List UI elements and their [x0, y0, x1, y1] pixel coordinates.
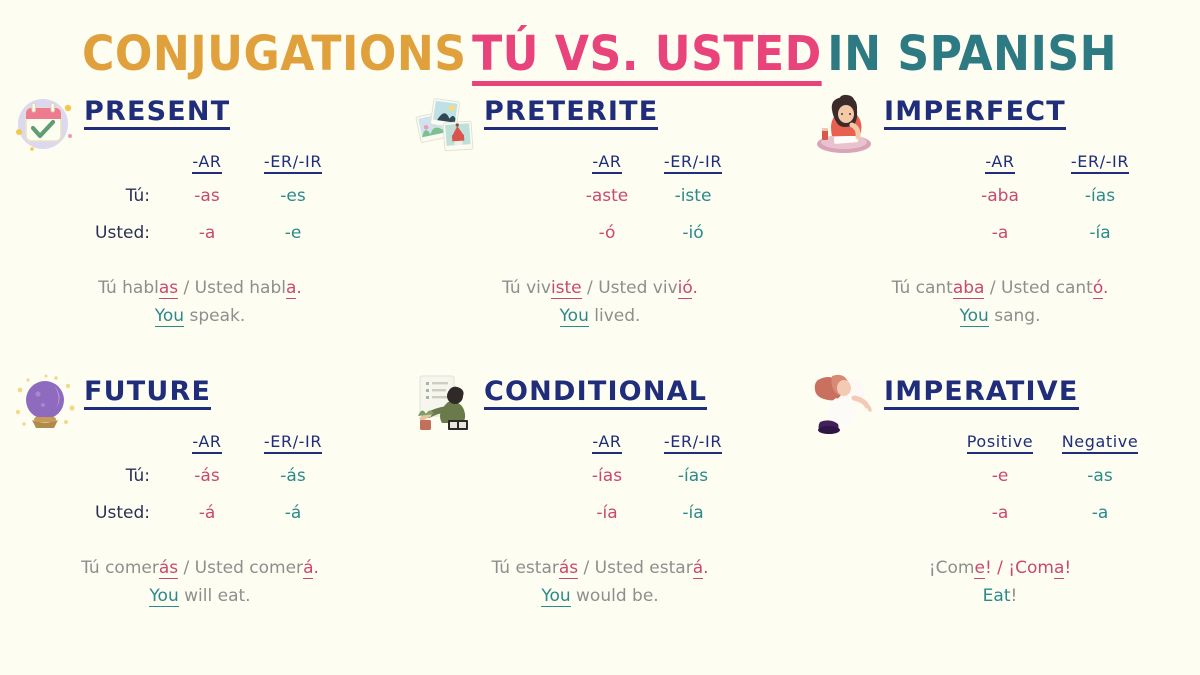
cell-usted-erir: -ía	[650, 503, 736, 523]
cell-tu-negative: -as	[1050, 466, 1150, 486]
page-title: CONJUGATIONSTÚ VS. USTEDIN SPANISH	[82, 30, 1117, 86]
column-header-2: -ER/-IR	[650, 432, 736, 454]
person-gesturing-icon	[810, 372, 884, 438]
tense-title: IMPERFECT	[884, 98, 1066, 130]
cell-usted-ar: -a	[164, 223, 250, 243]
column-header-1: -AR	[950, 152, 1050, 174]
cell-usted-ar: -á	[164, 503, 250, 523]
example-line-1: Tú cantaba / Usted cantó.	[892, 278, 1109, 299]
table-header-row: -AR -ER/-IR	[0, 152, 400, 186]
table-row-tu: -aba -ías	[800, 186, 1200, 223]
cell-tu-positive: -e	[950, 466, 1050, 486]
table-header-row: Positive Negative	[800, 432, 1200, 466]
table-row-tu: -aste -iste	[400, 186, 800, 223]
example-line-2: You lived.	[430, 302, 770, 330]
example-line-1: Tú hablas / Usted habla.	[98, 278, 302, 299]
cell-tu-ar: -ías	[564, 466, 650, 486]
cell-usted-erir: -á	[250, 503, 336, 523]
row-label-usted: Usted:	[0, 223, 164, 243]
table-row-usted: Usted: -á -á	[0, 503, 400, 540]
table-row-tu: Tú: -as -es	[0, 186, 400, 223]
cell-usted-negative: -a	[1050, 503, 1150, 523]
table-row-usted: -a -a	[800, 503, 1200, 540]
cell-usted-ar: -a	[950, 223, 1050, 243]
table-header-row: -AR -ER/-IR	[800, 152, 1200, 186]
tense-card-imperative: IMPERATIVE Positive Negative -e -as -a -…	[800, 378, 1200, 643]
tense-card-present: PRESENT -AR -ER/-IR Tú: -as -es Usted: -…	[0, 98, 400, 378]
row-label-usted: Usted:	[0, 503, 164, 523]
tense-card-imperfect: IMPERFECT -AR -ER/-IR -aba -ías -a -ía T…	[800, 98, 1200, 378]
cell-usted-erir: -ía	[1050, 223, 1150, 243]
table-row-usted: -ó -ió	[400, 223, 800, 260]
tense-title: CONDITIONAL	[484, 378, 707, 410]
example-sentences: Tú cantaba / Usted cantó. You sang.	[800, 274, 1200, 330]
cell-tu-erir: -ías	[650, 466, 736, 486]
conjugation-table: -AR -ER/-IR -aba -ías -a -ía	[800, 152, 1200, 260]
tense-title: FUTURE	[84, 378, 211, 410]
tense-card-future: FUTURE -AR -ER/-IR Tú: -ás -ás Usted: -á…	[0, 378, 400, 643]
tense-title: PRETERITE	[484, 98, 658, 130]
cell-usted-ar: -ó	[564, 223, 650, 243]
column-header-2: -ER/-IR	[250, 152, 336, 174]
cell-tu-erir: -es	[250, 186, 336, 206]
example-line-1: Tú viviste / Usted vivió.	[502, 278, 698, 299]
column-header-2: -ER/-IR	[1050, 152, 1150, 174]
card-header: CONDITIONAL	[400, 378, 800, 424]
example-line-2: You would be.	[430, 582, 770, 610]
table-header-row: -AR -ER/-IR	[400, 152, 800, 186]
cell-tu-erir: -ías	[1050, 186, 1150, 206]
cell-tu-ar: -as	[164, 186, 250, 206]
tense-card-conditional: CONDITIONAL -AR -ER/-IR -ías -ías -ía -í…	[400, 378, 800, 643]
page-title-bar: CONJUGATIONSTÚ VS. USTEDIN SPANISH	[0, 0, 1200, 86]
example-line-1: Tú comerás / Usted comerá.	[81, 558, 319, 579]
woman-writing-icon	[810, 92, 884, 158]
conjugation-table: Positive Negative -e -as -a -a	[800, 432, 1200, 540]
example-sentences: Tú viviste / Usted vivió. You lived.	[400, 274, 800, 330]
example-line-2: You sang.	[830, 302, 1170, 330]
card-header: IMPERATIVE	[800, 378, 1200, 424]
example-line-1: ¡Come! / ¡Coma!	[929, 558, 1071, 579]
card-header: PRESENT	[0, 98, 400, 144]
example-sentences: Tú comerás / Usted comerá. You will eat.	[0, 554, 400, 610]
table-header-row: -AR -ER/-IR	[0, 432, 400, 466]
row-label-tu: Tú:	[0, 466, 164, 486]
card-header: IMPERFECT	[800, 98, 1200, 144]
cell-usted-erir: -ió	[650, 223, 736, 243]
table-row-tu: -e -as	[800, 466, 1200, 503]
table-row-usted: Usted: -a -e	[0, 223, 400, 260]
conjugation-table: -AR -ER/-IR Tú: -ás -ás Usted: -á -á	[0, 432, 400, 540]
title-part-tu-vs-usted: TÚ VS. USTED	[473, 30, 823, 86]
column-header-negative: Negative	[1050, 432, 1150, 454]
example-sentences: Tú hablas / Usted habla. You speak.	[0, 274, 400, 330]
cell-usted-erir: -e	[250, 223, 336, 243]
table-row-tu: -ías -ías	[400, 466, 800, 503]
example-line-1: Tú estarás / Usted estará.	[491, 558, 708, 579]
cell-tu-ar: -aste	[564, 186, 650, 206]
table-header-row: -AR -ER/-IR	[400, 432, 800, 466]
cell-tu-ar: -aba	[950, 186, 1050, 206]
cell-tu-erir: -ás	[250, 466, 336, 486]
conjugation-table: -AR -ER/-IR -ías -ías -ía -ía	[400, 432, 800, 540]
cell-usted-positive: -a	[950, 503, 1050, 523]
column-header-1: -AR	[564, 152, 650, 174]
cell-usted-ar: -ía	[564, 503, 650, 523]
example-line-2: You will eat.	[30, 582, 370, 610]
column-header-1: -AR	[164, 432, 250, 454]
example-line-2: Eat!	[830, 582, 1170, 610]
table-row-usted: -a -ía	[800, 223, 1200, 260]
title-part-in-spanish: IN SPANISH	[828, 30, 1118, 78]
conjugation-table: -AR -ER/-IR -aste -iste -ó -ió	[400, 152, 800, 260]
column-header-positive: Positive	[950, 432, 1050, 454]
tense-card-preterite: PRETERITE -AR -ER/-IR -aste -iste -ó -ió…	[400, 98, 800, 378]
table-row-usted: -ía -ía	[400, 503, 800, 540]
tense-card-grid: PRESENT -AR -ER/-IR Tú: -as -es Usted: -…	[0, 98, 1200, 643]
example-sentences: ¡Come! / ¡Coma! Eat!	[800, 554, 1200, 610]
tense-title: PRESENT	[84, 98, 230, 130]
card-header: PRETERITE	[400, 98, 800, 144]
title-part-conjugations: CONJUGATIONS	[82, 30, 467, 78]
card-header: FUTURE	[0, 378, 400, 424]
row-label-tu: Tú:	[0, 186, 164, 206]
presentation-person-icon	[410, 372, 484, 438]
example-sentences: Tú estarás / Usted estará. You would be.	[400, 554, 800, 610]
column-header-2: -ER/-IR	[250, 432, 336, 454]
conjugation-table: -AR -ER/-IR Tú: -as -es Usted: -a -e	[0, 152, 400, 260]
cell-tu-ar: -ás	[164, 466, 250, 486]
tense-title: IMPERATIVE	[884, 378, 1079, 410]
calendar-check-icon	[10, 92, 84, 158]
table-row-tu: Tú: -ás -ás	[0, 466, 400, 503]
cell-tu-erir: -iste	[650, 186, 736, 206]
column-header-2: -ER/-IR	[650, 152, 736, 174]
photos-icon	[410, 92, 484, 158]
crystal-ball-icon	[10, 372, 84, 438]
example-line-2: You speak.	[30, 302, 370, 330]
column-header-1: -AR	[564, 432, 650, 454]
column-header-1: -AR	[164, 152, 250, 174]
